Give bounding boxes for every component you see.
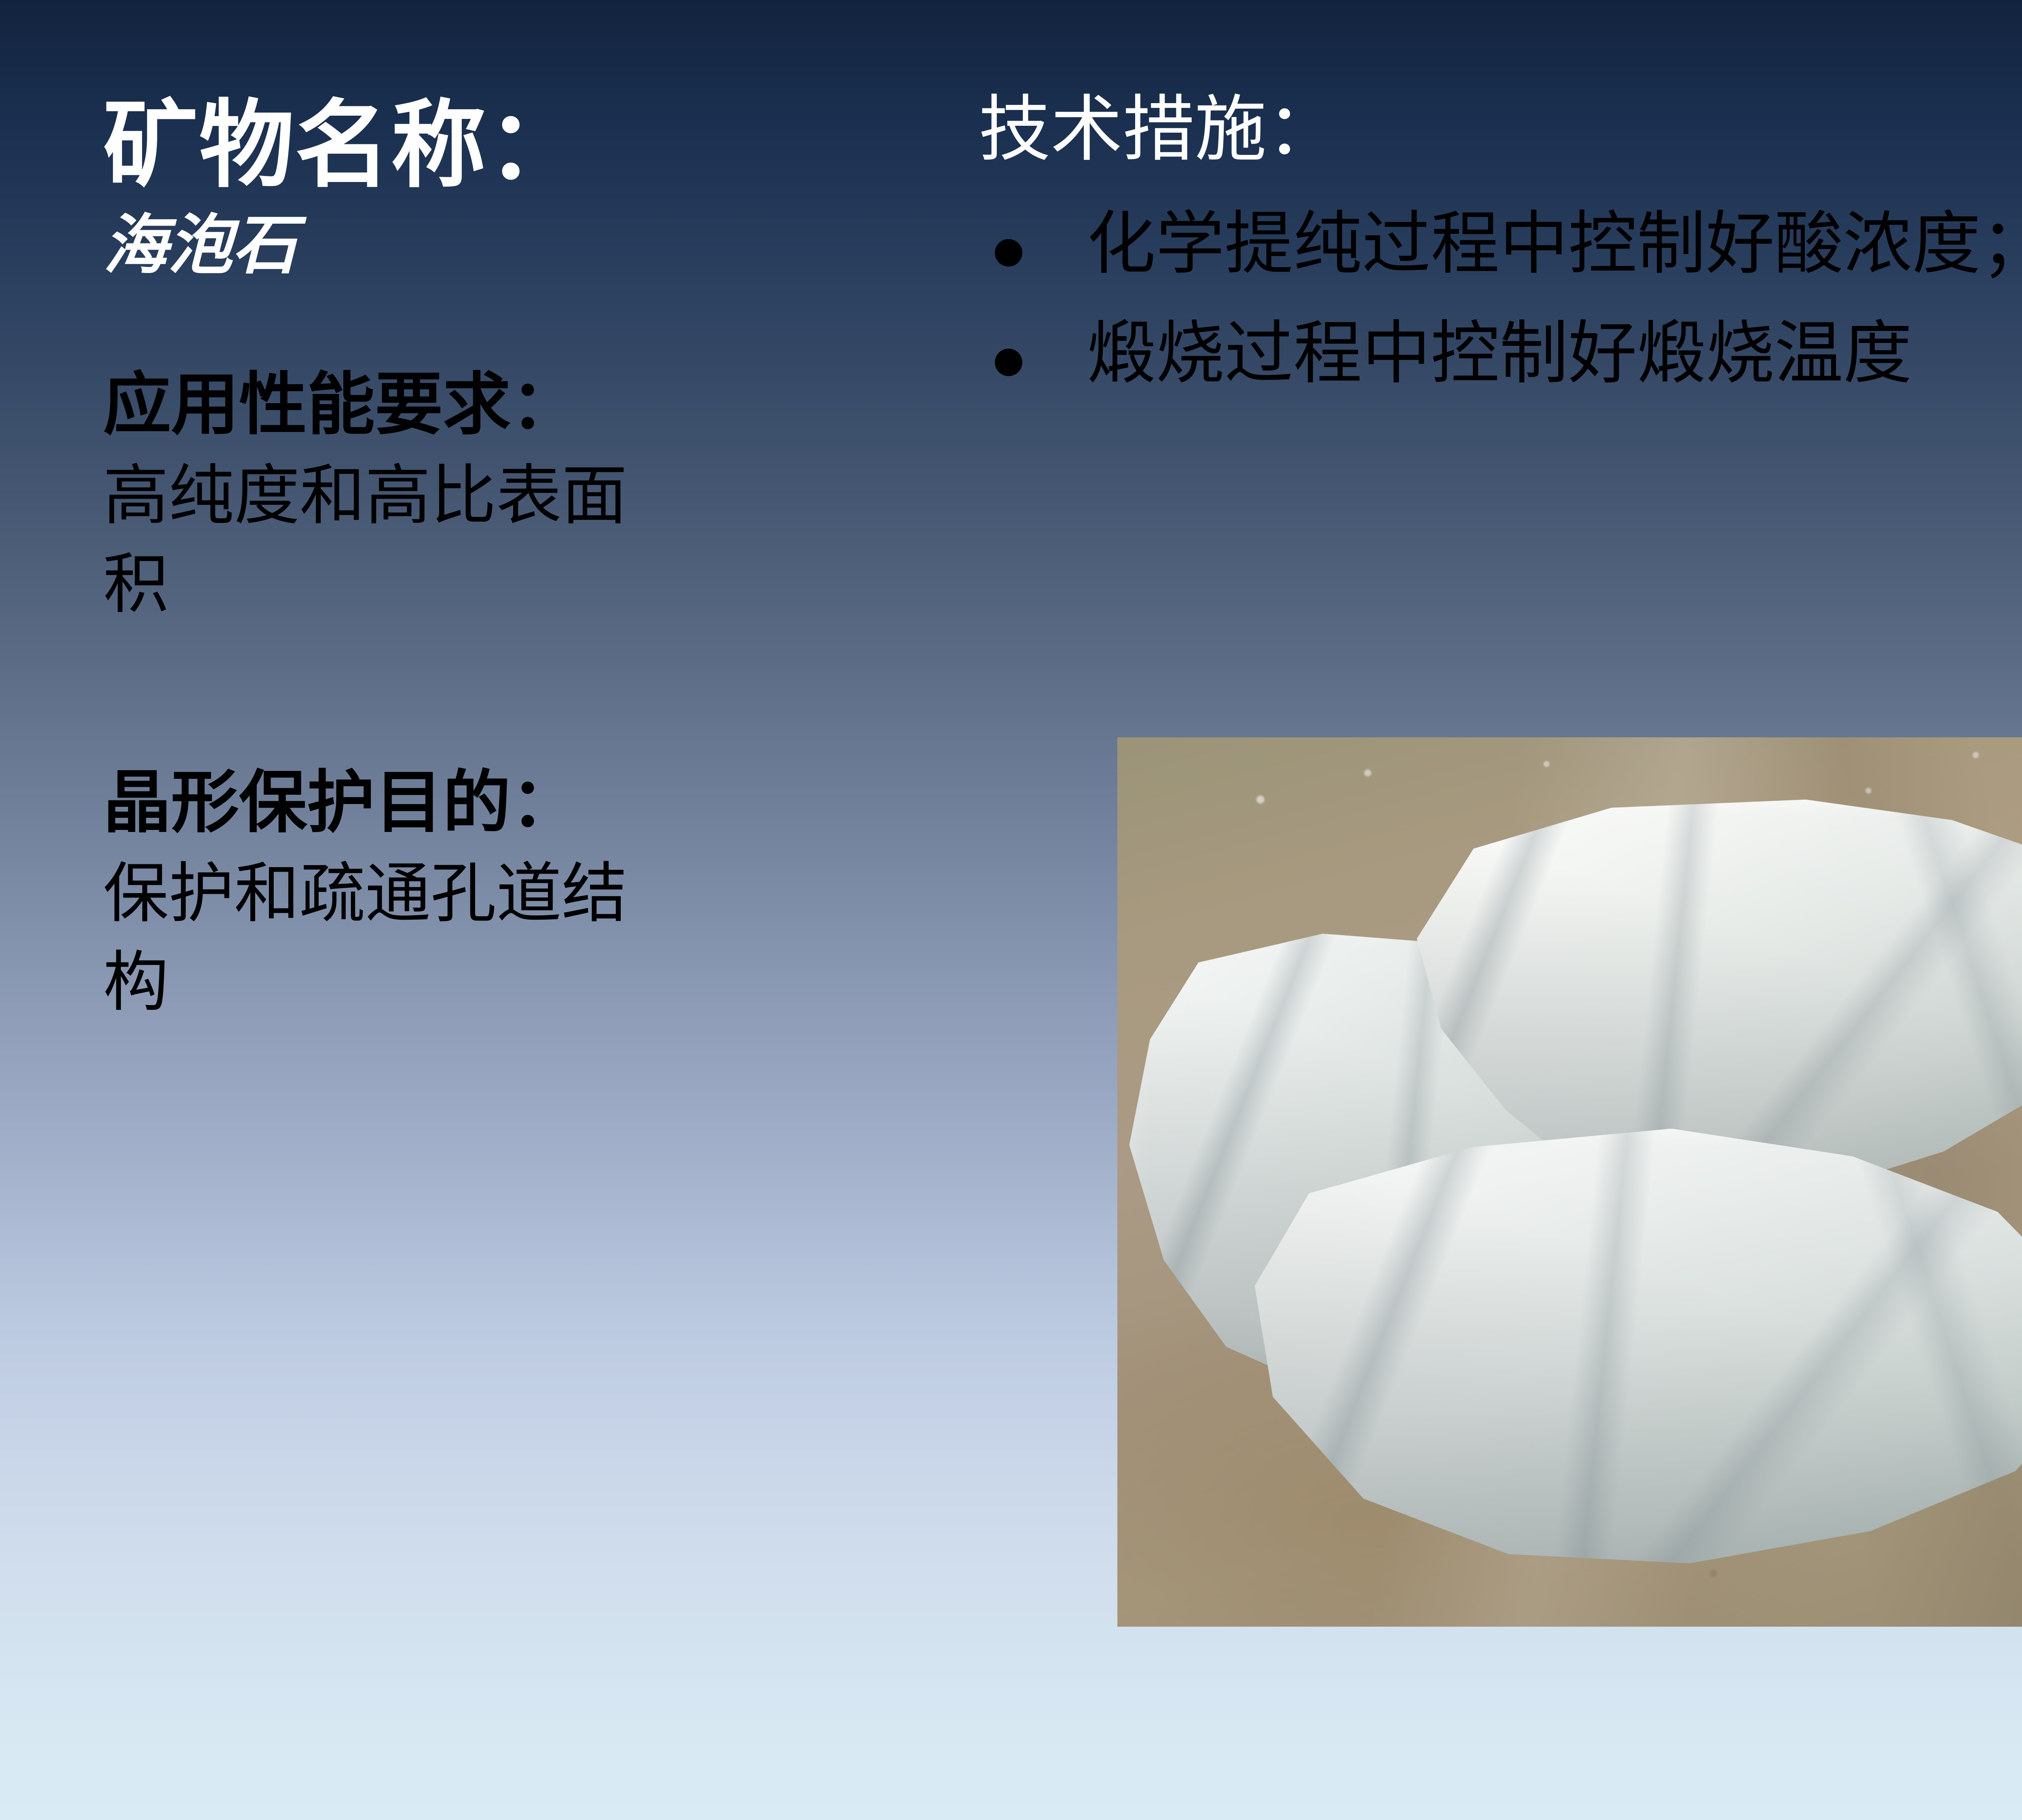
- section-crystal-protection-purpose: 晶形保护目的： 保护和疏通孔道结构: [103, 763, 851, 1028]
- bullet-dot-icon: [995, 239, 1022, 267]
- mineral-chunk-bottom: [1237, 1129, 2022, 1591]
- section-body-application-requirements: 高纯度和高比表面积: [103, 453, 661, 629]
- left-content-column: 矿物名称： 海泡石 应用性能要求： 高纯度和高比表面积 晶形保护目的： 保护和疏…: [103, 93, 851, 1027]
- slide-title: 矿物名称：: [103, 93, 851, 199]
- presentation-slide: 矿物名称： 海泡石 应用性能要求： 高纯度和高比表面积 晶形保护目的： 保护和疏…: [0, 0, 2022, 1820]
- list-item: 煅烧过程中控制好煅烧温度: [979, 307, 2022, 401]
- mineral-shading: [1237, 1129, 2022, 1591]
- section-application-requirements: 应用性能要求： 高纯度和高比表面积: [103, 365, 851, 630]
- section-heading-application-requirements: 应用性能要求：: [103, 365, 851, 445]
- slide-subtitle-mineral-name: 海泡石: [103, 207, 851, 284]
- list-item-text: 煅烧过程中控制好煅烧温度: [1087, 316, 1912, 392]
- mineral-photo: [1117, 737, 2022, 1627]
- section-body-crystal-protection-purpose: 保护和疏通孔道结构: [103, 851, 661, 1027]
- section-heading-crystal-protection-purpose: 晶形保护目的：: [103, 763, 851, 843]
- bullet-dot-icon: [995, 349, 1022, 376]
- right-content-column: 技术措施： 化学提纯过程中控制好酸浓度； 煅烧过程中控制好煅烧温度: [979, 87, 2022, 417]
- technical-measures-list: 化学提纯过程中控制好酸浓度； 煅烧过程中控制好煅烧温度: [979, 198, 2022, 401]
- list-item: 化学提纯过程中控制好酸浓度；: [979, 198, 2022, 291]
- section-heading-technical-measures: 技术措施：: [979, 87, 2022, 174]
- list-item-text: 化学提纯过程中控制好酸浓度；: [1087, 206, 2022, 282]
